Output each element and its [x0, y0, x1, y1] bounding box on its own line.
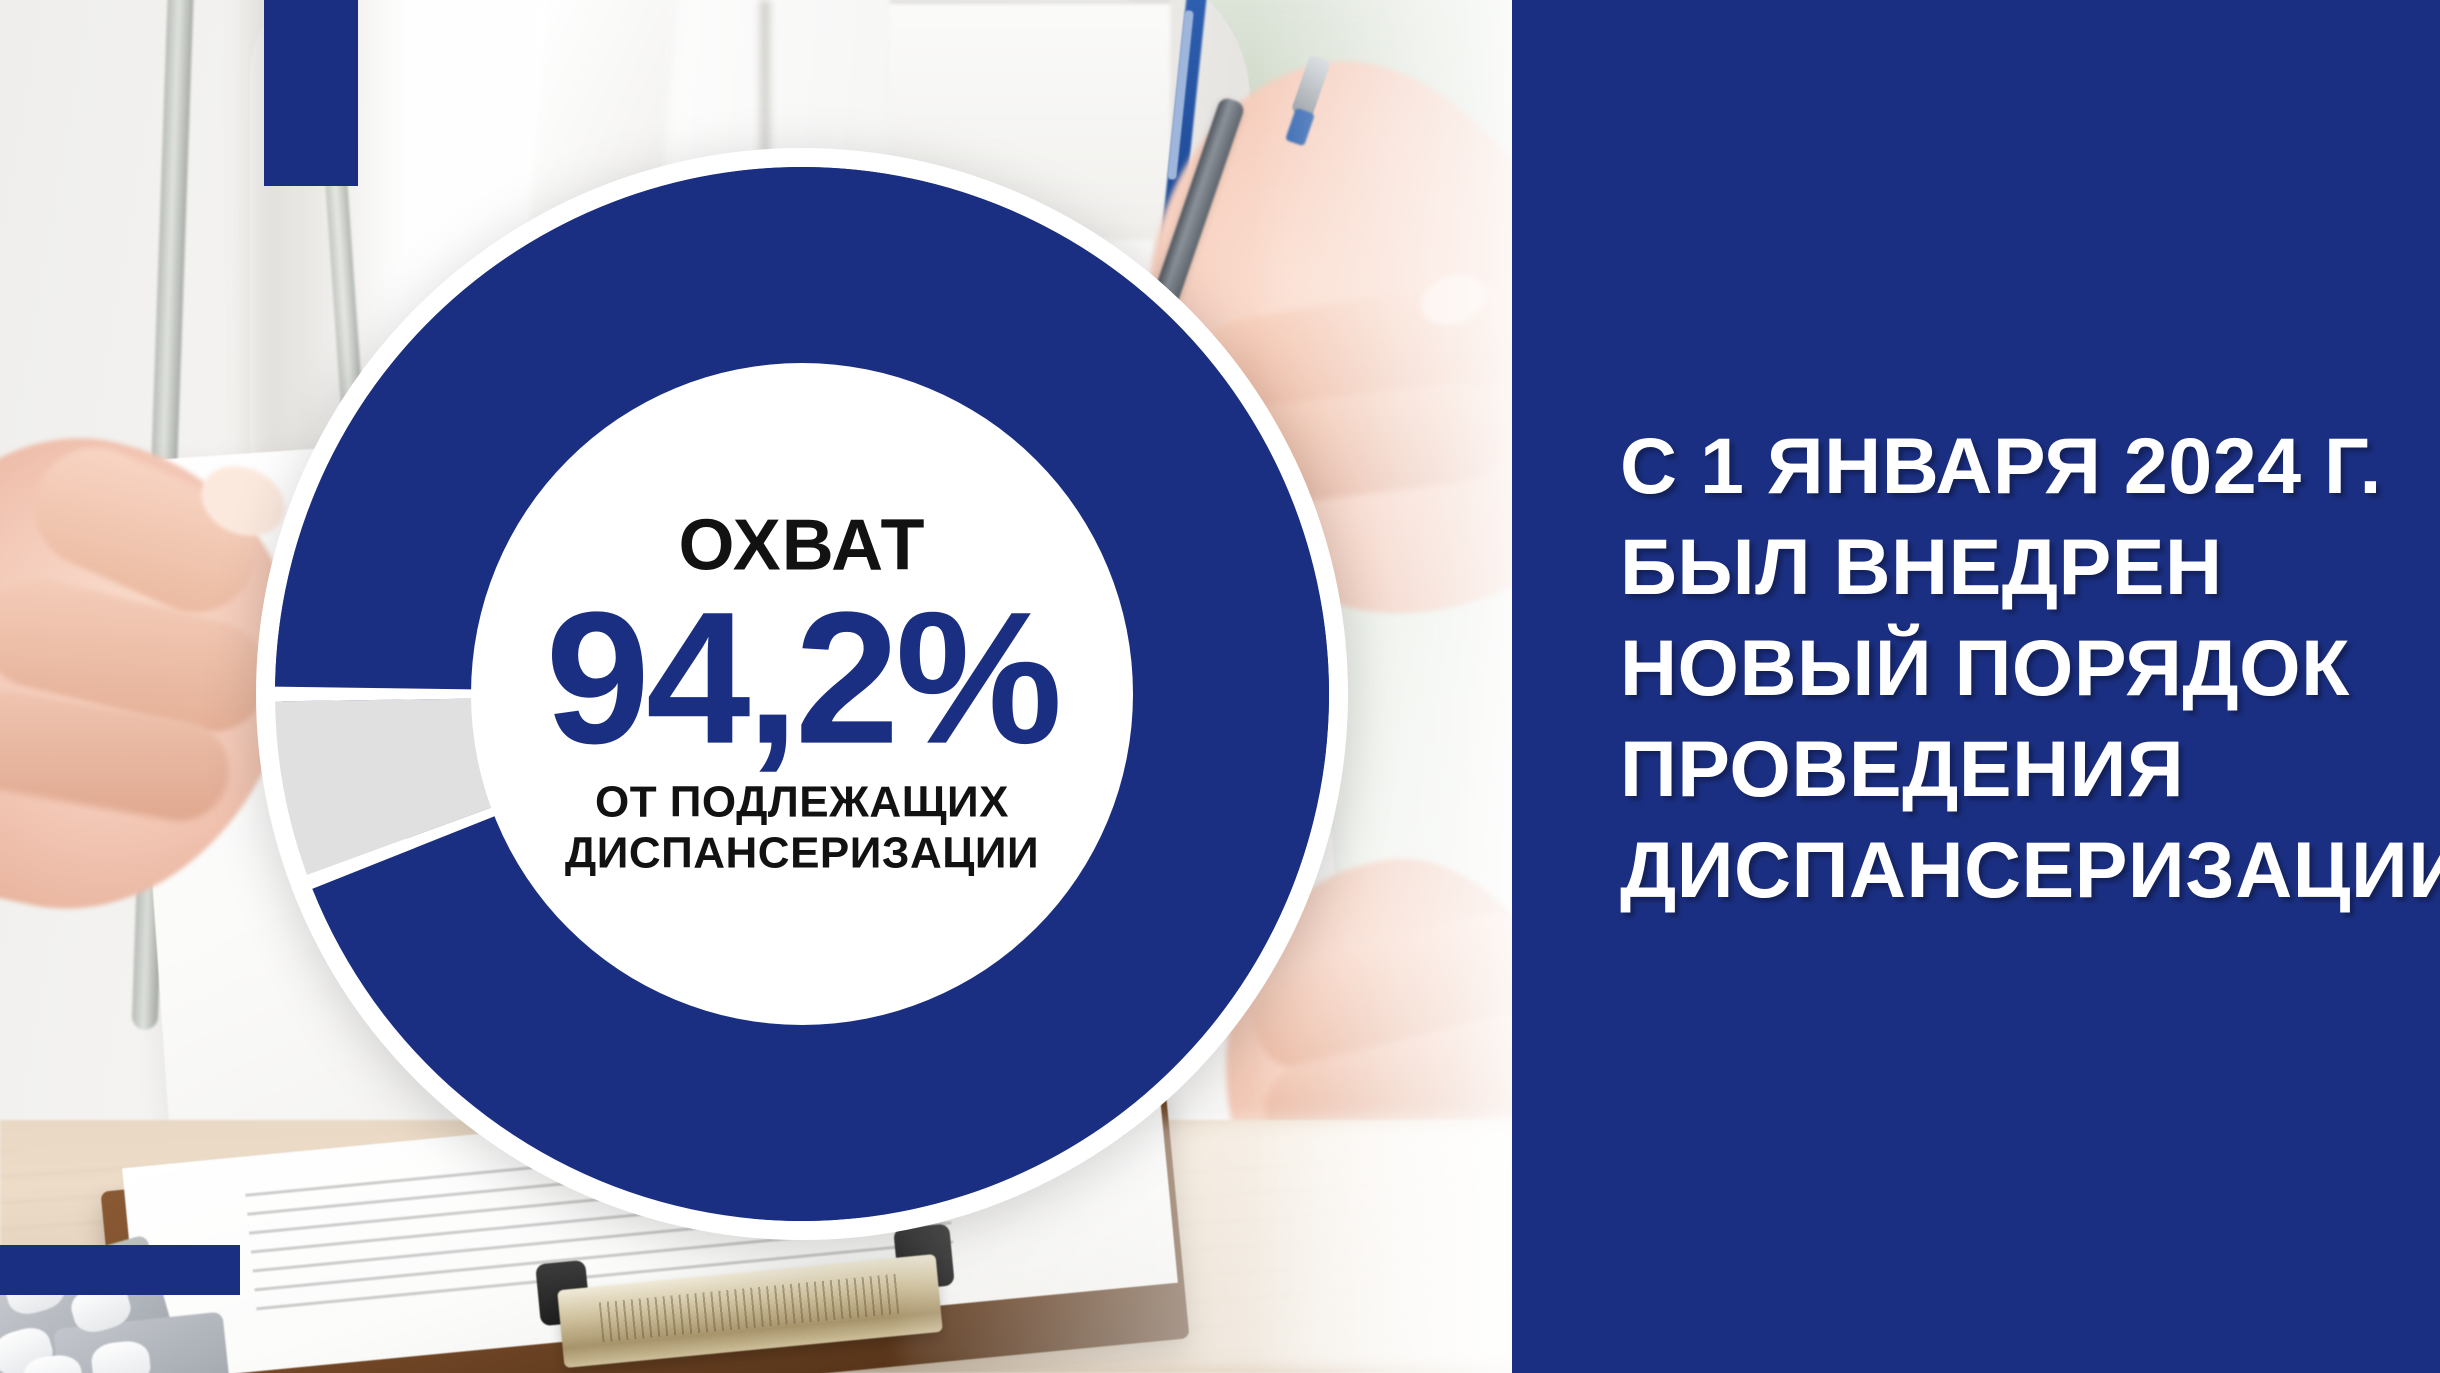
donut-chart: ОХВАТ 94,2% ОТ ПОДЛЕЖАЩИХ ДИСПАНСЕРИЗАЦИ… — [253, 145, 1351, 1243]
donut-caption-line-2: ДИСПАНСЕРИЗАЦИИ — [565, 828, 1039, 877]
panel-headline-line-3: НОВЫЙ ПОРЯДОК — [1620, 617, 2410, 718]
donut-caption: ОТ ПОДЛЕЖАЩИХ ДИСПАНСЕРИЗАЦИИ — [472, 778, 1132, 878]
donut-label-top: ОХВАТ — [472, 510, 1132, 582]
panel-headline-line-2: БЫЛ ВНЕДРЕН — [1620, 516, 2410, 617]
accent-bar-bottom-left — [0, 1245, 240, 1295]
panel-headline: С 1 ЯНВАРЯ 2024 Г. БЫЛ ВНЕДРЕН НОВЫЙ ПОР… — [1620, 415, 2410, 921]
panel-headline-line-5: ДИСПАНСЕРИЗАЦИИ — [1620, 819, 2410, 920]
donut-value: 94,2% — [472, 588, 1132, 768]
donut-center-labels: ОХВАТ 94,2% ОТ ПОДЛЕЖАЩИХ ДИСПАНСЕРИЗАЦИ… — [472, 510, 1132, 879]
panel-headline-line-1: С 1 ЯНВАРЯ 2024 Г. — [1620, 415, 2410, 516]
infographic-slide: ОХВАТ 94,2% ОТ ПОДЛЕЖАЩИХ ДИСПАНСЕРИЗАЦИ… — [0, 0, 2440, 1373]
right-panel: С 1 ЯНВАРЯ 2024 Г. БЫЛ ВНЕДРЕН НОВЫЙ ПОР… — [1512, 0, 2440, 1373]
panel-headline-line-4: ПРОВЕДЕНИЯ — [1620, 718, 2410, 819]
donut-caption-line-1: ОТ ПОДЛЕЖАЩИХ — [595, 778, 1009, 827]
